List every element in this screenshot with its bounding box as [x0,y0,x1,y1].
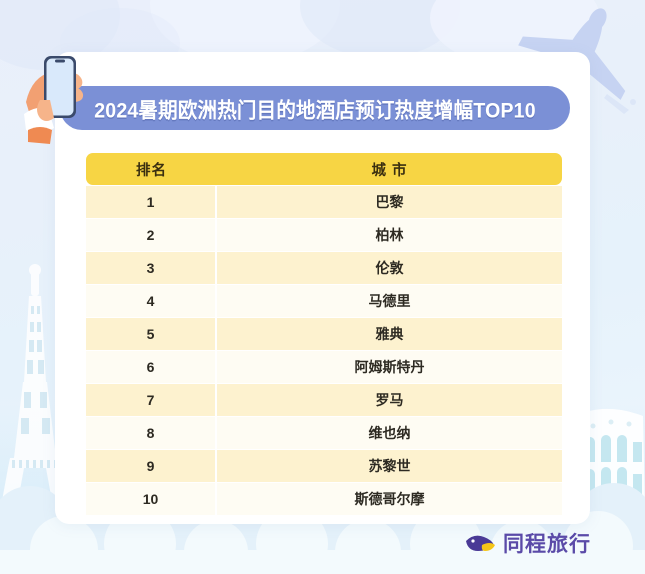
cell-rank: 2 [86,219,217,251]
poster-root: 2024暑期欧洲热门目的地酒店预订热度增幅TOP10 [0,0,645,574]
cell-city: 苏黎世 [217,450,562,482]
table-row: 7 罗马 [86,384,562,416]
brand-logo: 同程旅行 [464,528,591,558]
cell-rank: 3 [86,252,217,284]
table-row: 10 斯德哥尔摩 [86,483,562,515]
cell-rank: 8 [86,417,217,449]
page-title: 2024暑期欧洲热门目的地酒店预订热度增幅TOP10 [94,92,536,123]
cell-rank: 7 [86,384,217,416]
brand-name: 同程旅行 [503,528,591,558]
tongcheng-bird-icon [464,533,496,553]
cell-rank: 1 [86,186,217,218]
ranking-table: 排名 城 市 1 巴黎 2 柏林 3 伦敦 4 [86,152,562,516]
table-row: 6 阿姆斯特丹 [86,351,562,383]
cell-city: 巴黎 [217,186,562,218]
column-header-city: 城 市 [217,153,562,185]
cell-rank: 9 [86,450,217,482]
table-row: 1 巴黎 [86,186,562,218]
cloud-icon [300,0,460,58]
cell-rank: 10 [86,483,217,515]
cell-rank: 4 [86,285,217,317]
cell-city: 维也纳 [217,417,562,449]
table-row: 5 雅典 [86,318,562,350]
cell-city: 斯德哥尔摩 [217,483,562,515]
cell-city: 罗马 [217,384,562,416]
cell-rank: 6 [86,351,217,383]
cell-city: 雅典 [217,318,562,350]
table-row: 3 伦敦 [86,252,562,284]
table-row: 2 柏林 [86,219,562,251]
table-row: 9 苏黎世 [86,450,562,482]
cell-city: 马德里 [217,285,562,317]
table-body: 1 巴黎 2 柏林 3 伦敦 4 马德里 5 雅典 [86,186,562,515]
cell-city: 阿姆斯特丹 [217,351,562,383]
table-header-row: 排名 城 市 [86,153,562,185]
cell-rank: 5 [86,318,217,350]
table-row: 4 马德里 [86,285,562,317]
title-ribbon: 2024暑期欧洲热门目的地酒店预订热度增幅TOP10 [60,86,570,130]
hand-holding-phone-icon [22,44,100,144]
table-row: 8 维也纳 [86,417,562,449]
ranking-table-container: 排名 城 市 1 巴黎 2 柏林 3 伦敦 4 [86,152,562,516]
cell-city: 伦敦 [217,252,562,284]
column-header-rank: 排名 [86,153,217,185]
cell-city: 柏林 [217,219,562,251]
table-header: 排名 城 市 [86,153,562,185]
